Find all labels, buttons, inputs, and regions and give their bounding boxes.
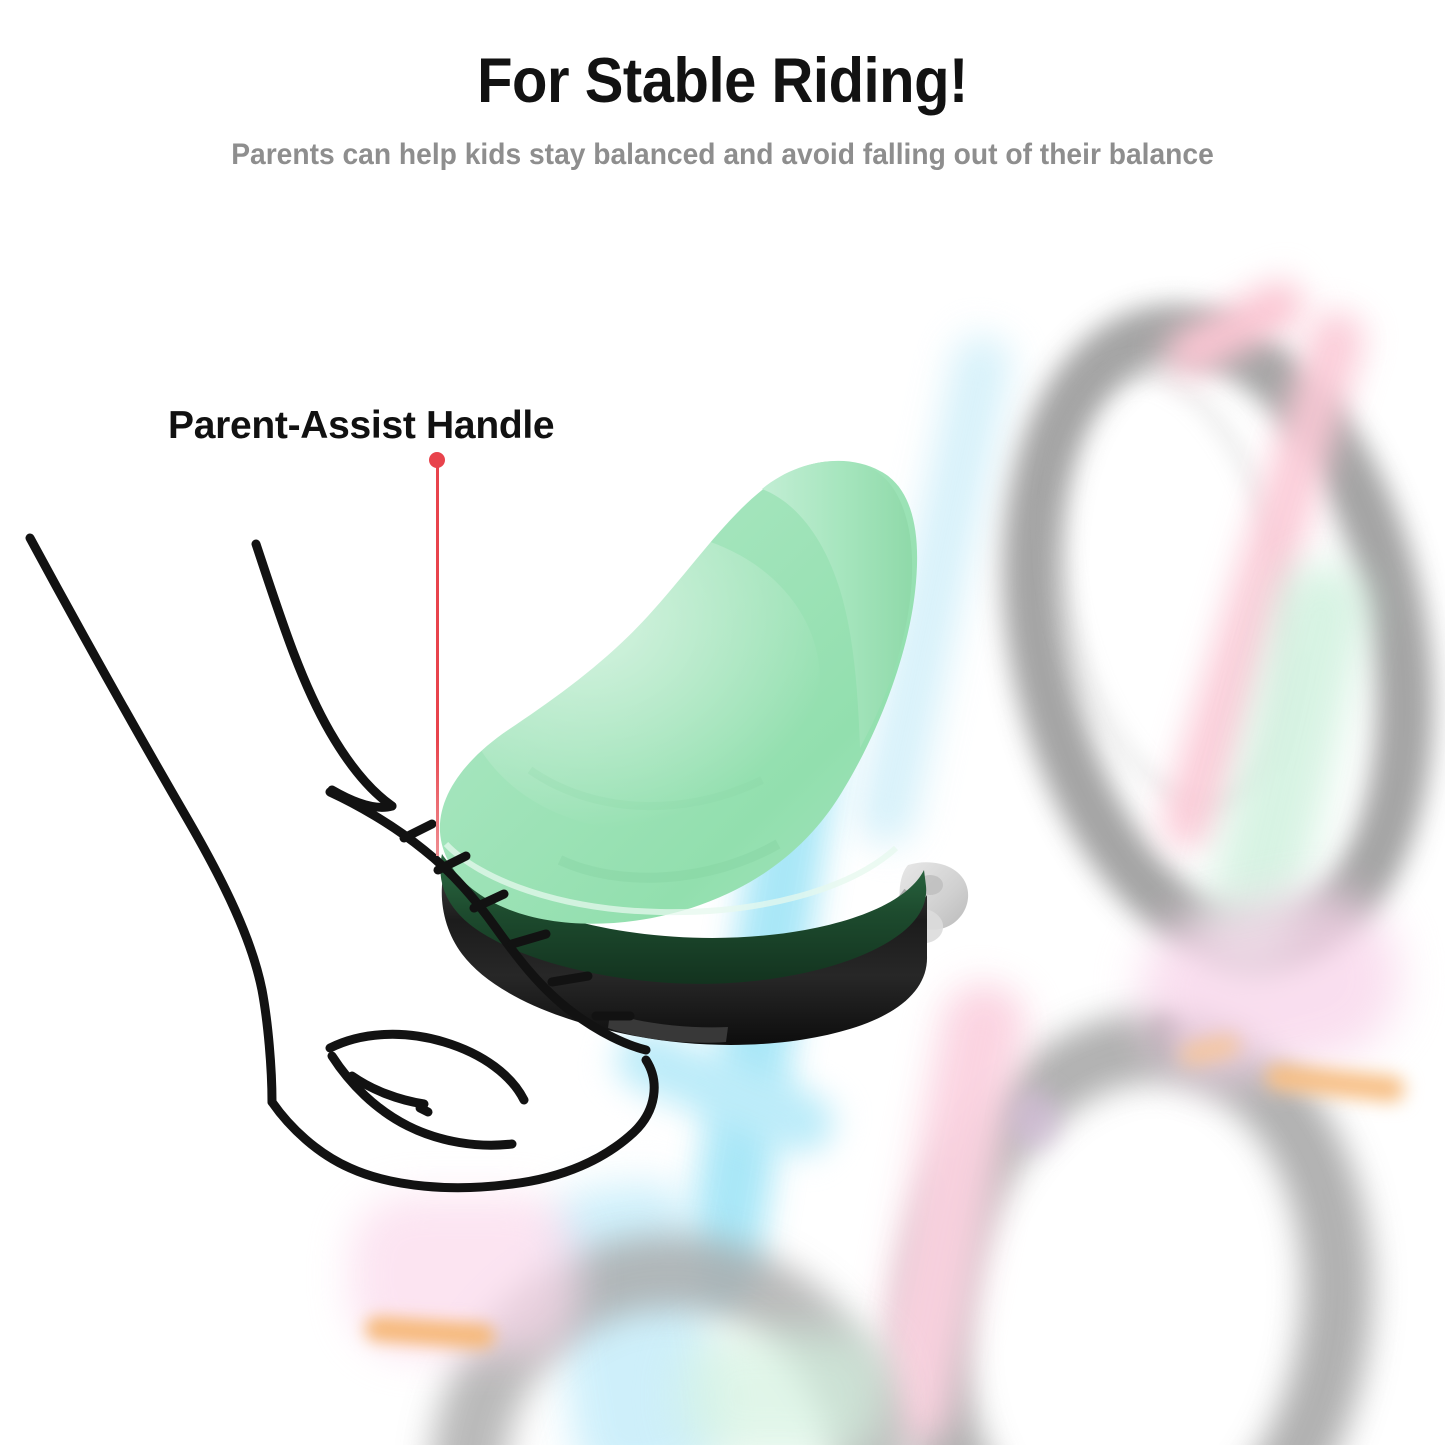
background-orange-accent-left (364, 1315, 495, 1349)
background-green-accent (1194, 555, 1376, 984)
background-pink-fork-tube (1154, 304, 1371, 856)
background-rear-wheel (944, 264, 1445, 1012)
background-bottom-left-wheel (430, 1235, 908, 1445)
callout-leader-line (436, 462, 439, 856)
background-purple-accent (1010, 1090, 1060, 1150)
promo-image-canvas: For Stable Riding! Parents can help kids… (0, 0, 1445, 1445)
background-pink-rear-blur (1125, 875, 1415, 1095)
background-rear-wheel-inner (1016, 346, 1330, 829)
page-subheadline: Parents can help kids stay balanced and … (43, 137, 1401, 173)
parent-hand-outline (0, 520, 700, 1220)
background-orange-accent-mid (1178, 1033, 1241, 1067)
background-green-accent-lower (680, 1330, 890, 1445)
callout-marker-dot (429, 452, 445, 468)
background-orange-accent-right (1264, 1063, 1406, 1103)
callout-label-parent-assist-handle: Parent-Assist Handle (168, 404, 554, 448)
page-headline: For Stable Riding! (58, 48, 1387, 114)
background-wheel-hub (1150, 1015, 1184, 1055)
background-pink-fork-top (1158, 273, 1313, 386)
